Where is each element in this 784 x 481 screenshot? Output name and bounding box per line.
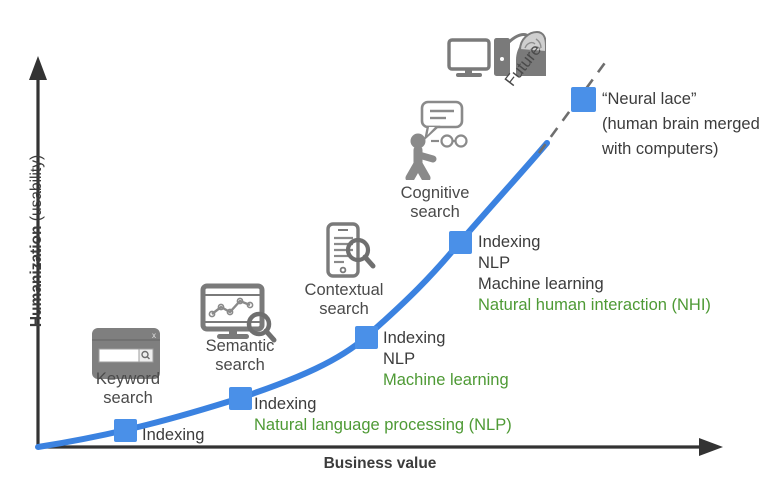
stage-label-keyword: Keyword search bbox=[82, 370, 174, 408]
diagram-canvas: x bbox=[0, 0, 784, 481]
y-axis-title-strong: Humanization bbox=[28, 226, 45, 328]
callout-semantic: Indexing Natural language processing (NL… bbox=[254, 394, 512, 436]
callout-contextual-new-1: Machine learning bbox=[383, 370, 509, 391]
callout-cognitive-new-1: Natural human interaction (NHI) bbox=[478, 295, 711, 316]
mobile-magnifier-icon bbox=[320, 222, 382, 284]
callout-cognitive: Indexing NLP Machine learning Natural hu… bbox=[478, 232, 711, 316]
stage-label-contextual: Contextual search bbox=[288, 281, 400, 319]
y-axis-title: Humanization (usability) bbox=[28, 121, 46, 361]
neural-lace-description: “Neural lace” (human brain merged with c… bbox=[602, 87, 760, 162]
marker-keyword bbox=[114, 419, 137, 442]
person-speech-bubble-icon bbox=[400, 100, 490, 180]
callout-semantic-cap-1: Indexing bbox=[254, 394, 512, 415]
stage-label-semantic: Semantic search bbox=[186, 337, 294, 375]
callout-semantic-new-1: Natural language processing (NLP) bbox=[254, 415, 512, 436]
callout-cognitive-cap-1: Indexing bbox=[478, 232, 711, 253]
callout-cognitive-cap-3: Machine learning bbox=[478, 274, 711, 295]
x-axis-title: Business value bbox=[0, 455, 760, 473]
callout-contextual-cap-1: Indexing bbox=[383, 328, 509, 349]
callout-contextual-cap-2: NLP bbox=[383, 349, 509, 370]
marker-semantic bbox=[229, 387, 252, 410]
svg-text:x: x bbox=[152, 331, 156, 340]
callout-cognitive-cap-2: NLP bbox=[478, 253, 711, 274]
callout-contextual: Indexing NLP Machine learning bbox=[383, 328, 509, 391]
marker-neural-lace bbox=[571, 87, 596, 112]
marker-contextual bbox=[355, 326, 378, 349]
y-axis-title-light: (usability) bbox=[28, 155, 45, 226]
stage-label-cognitive: Cognitive search bbox=[381, 184, 489, 222]
marker-cognitive bbox=[449, 231, 472, 254]
monitor-chart-magnifier-icon bbox=[200, 283, 278, 345]
callout-keyword: Indexing bbox=[142, 425, 204, 446]
callout-keyword-cap-1: Indexing bbox=[142, 425, 204, 446]
